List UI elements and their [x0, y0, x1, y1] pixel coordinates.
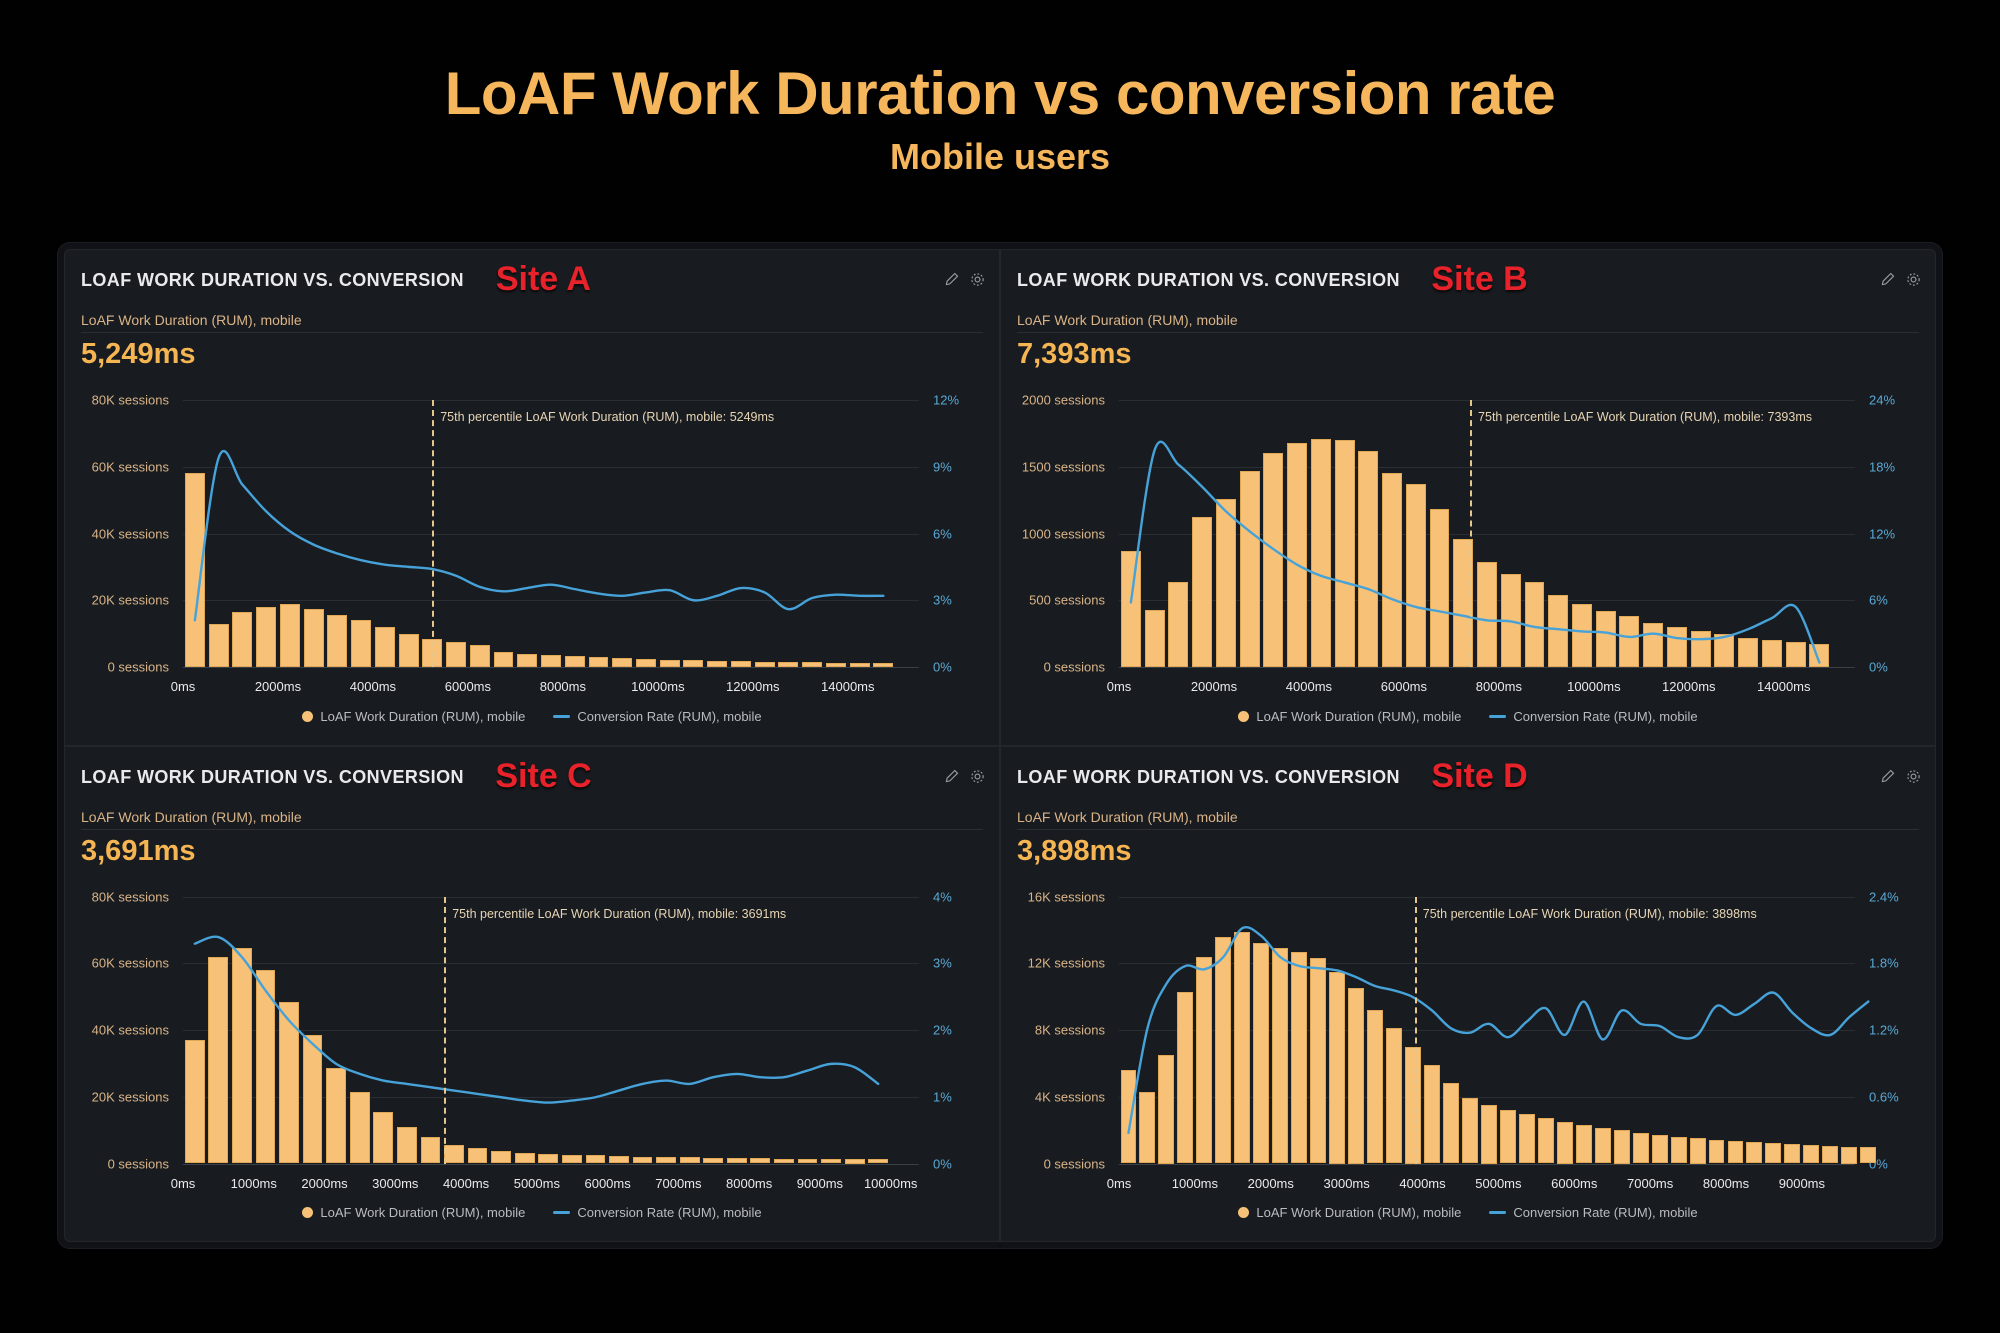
panel-actions[interactable] [944, 272, 985, 287]
percentile-marker-line [432, 400, 434, 667]
panel-header: LOAF WORK DURATION VS. CONVERSION Site D [1001, 747, 1935, 801]
chart-legend: LoAF Work Duration (RUM), mobileConversi… [65, 1204, 999, 1222]
legend-label: Conversion Rate (RUM), mobile [577, 709, 761, 724]
panel-actions[interactable] [1880, 272, 1921, 287]
panel-header: LOAF WORK DURATION VS. CONVERSION Site C [65, 747, 999, 801]
panel-title: LOAF WORK DURATION VS. CONVERSION [81, 270, 464, 291]
legend-item-line[interactable]: Conversion Rate (RUM), mobile [1489, 708, 1697, 724]
metric-value: 3,898ms [1017, 835, 1132, 868]
legend-label: LoAF Work Duration (RUM), mobile [320, 1205, 525, 1220]
legend-line-icon [553, 715, 570, 718]
metric-label: LoAF Work Duration (RUM), mobile [1017, 809, 1238, 825]
site-label: Site D [1431, 757, 1527, 796]
legend-swatch-icon [1238, 711, 1249, 722]
percentile-marker-label: 75th percentile LoAF Work Duration (RUM)… [1478, 410, 1812, 424]
percentile-marker-label: 75th percentile LoAF Work Duration (RUM)… [440, 410, 774, 424]
metric-label: LoAF Work Duration (RUM), mobile [81, 312, 302, 328]
metric-label: LoAF Work Duration (RUM), mobile [81, 809, 302, 825]
percentile-marker-line [444, 897, 446, 1164]
legend-label: LoAF Work Duration (RUM), mobile [1256, 709, 1461, 724]
divider [81, 829, 983, 830]
chart-legend: LoAF Work Duration (RUM), mobileConversi… [1001, 1204, 1935, 1222]
panel-title: LOAF WORK DURATION VS. CONVERSION [1017, 270, 1400, 291]
legend-item-bars[interactable]: LoAF Work Duration (RUM), mobile [1238, 708, 1461, 724]
page-title: LoAF Work Duration vs conversion rate [0, 62, 2000, 125]
legend-item-bars[interactable]: LoAF Work Duration (RUM), mobile [302, 1204, 525, 1220]
legend-line-icon [553, 1211, 570, 1214]
screenshot-root: LoAF Work Duration vs conversion rate Mo… [0, 0, 2000, 1333]
panel-site-d[interactable]: LOAF WORK DURATION VS. CONVERSION Site D… [1000, 746, 1936, 1243]
gear-icon[interactable] [1906, 272, 1921, 287]
dashboard-grid: LOAF WORK DURATION VS. CONVERSION Site A… [58, 243, 1942, 1248]
percentile-marker-line [1470, 400, 1472, 667]
panel-header: LOAF WORK DURATION VS. CONVERSION Site B [1001, 250, 1935, 304]
site-label: Site A [496, 260, 591, 299]
divider [1017, 829, 1919, 830]
divider [1017, 332, 1919, 333]
chart-site-d[interactable]: 0 sessions4K sessions8K sessions12K sess… [1001, 879, 1935, 1242]
pencil-icon[interactable] [944, 769, 959, 784]
legend-swatch-icon [1238, 1207, 1249, 1218]
chart-site-c[interactable]: 0 sessions20K sessions40K sessions60K se… [65, 879, 999, 1242]
gear-icon[interactable] [970, 769, 985, 784]
percentile-marker-line [1415, 897, 1417, 1164]
pencil-icon[interactable] [1880, 769, 1895, 784]
legend-line-icon [1489, 1211, 1506, 1214]
legend-label: Conversion Rate (RUM), mobile [577, 1205, 761, 1220]
legend-swatch-icon [302, 711, 313, 722]
site-label: Site B [1431, 260, 1527, 299]
legend-line-icon [1489, 715, 1506, 718]
panel-title: LOAF WORK DURATION VS. CONVERSION [1017, 767, 1400, 788]
conversion-rate-line [1001, 382, 1935, 745]
legend-label: Conversion Rate (RUM), mobile [1513, 709, 1697, 724]
conversion-rate-line [65, 382, 999, 745]
gear-icon[interactable] [1906, 769, 1921, 784]
legend-label: LoAF Work Duration (RUM), mobile [320, 709, 525, 724]
legend-swatch-icon [302, 1207, 313, 1218]
divider [81, 332, 983, 333]
pencil-icon[interactable] [944, 272, 959, 287]
conversion-rate-line [65, 879, 999, 1242]
site-label: Site C [495, 757, 591, 796]
gear-icon[interactable] [970, 272, 985, 287]
metric-label: LoAF Work Duration (RUM), mobile [1017, 312, 1238, 328]
legend-item-line[interactable]: Conversion Rate (RUM), mobile [553, 708, 761, 724]
panel-site-c[interactable]: LOAF WORK DURATION VS. CONVERSION Site C… [64, 746, 1000, 1243]
panel-site-a[interactable]: LOAF WORK DURATION VS. CONVERSION Site A… [64, 249, 1000, 746]
legend-item-bars[interactable]: LoAF Work Duration (RUM), mobile [1238, 1204, 1461, 1220]
panel-title: LOAF WORK DURATION VS. CONVERSION [81, 767, 464, 788]
legend-item-line[interactable]: Conversion Rate (RUM), mobile [553, 1204, 761, 1220]
legend-item-bars[interactable]: LoAF Work Duration (RUM), mobile [302, 708, 525, 724]
panel-actions[interactable] [944, 769, 985, 784]
legend-item-line[interactable]: Conversion Rate (RUM), mobile [1489, 1204, 1697, 1220]
conversion-rate-line [1001, 879, 1935, 1242]
page-subtitle: Mobile users [0, 136, 2000, 178]
metric-value: 7,393ms [1017, 338, 1132, 371]
panel-header: LOAF WORK DURATION VS. CONVERSION Site A [65, 250, 999, 304]
panel-site-b[interactable]: LOAF WORK DURATION VS. CONVERSION Site B… [1000, 249, 1936, 746]
chart-legend: LoAF Work Duration (RUM), mobileConversi… [65, 707, 999, 725]
metric-value: 5,249ms [81, 338, 196, 371]
legend-label: Conversion Rate (RUM), mobile [1513, 1205, 1697, 1220]
metric-value: 3,691ms [81, 835, 196, 868]
chart-site-a[interactable]: 0 sessions20K sessions40K sessions60K se… [65, 382, 999, 745]
panel-actions[interactable] [1880, 769, 1921, 784]
percentile-marker-label: 75th percentile LoAF Work Duration (RUM)… [1423, 907, 1757, 921]
percentile-marker-label: 75th percentile LoAF Work Duration (RUM)… [452, 907, 786, 921]
chart-site-b[interactable]: 0 sessions500 sessions1000 sessions1500 … [1001, 382, 1935, 745]
pencil-icon[interactable] [1880, 272, 1895, 287]
legend-label: LoAF Work Duration (RUM), mobile [1256, 1205, 1461, 1220]
chart-legend: LoAF Work Duration (RUM), mobileConversi… [1001, 707, 1935, 725]
